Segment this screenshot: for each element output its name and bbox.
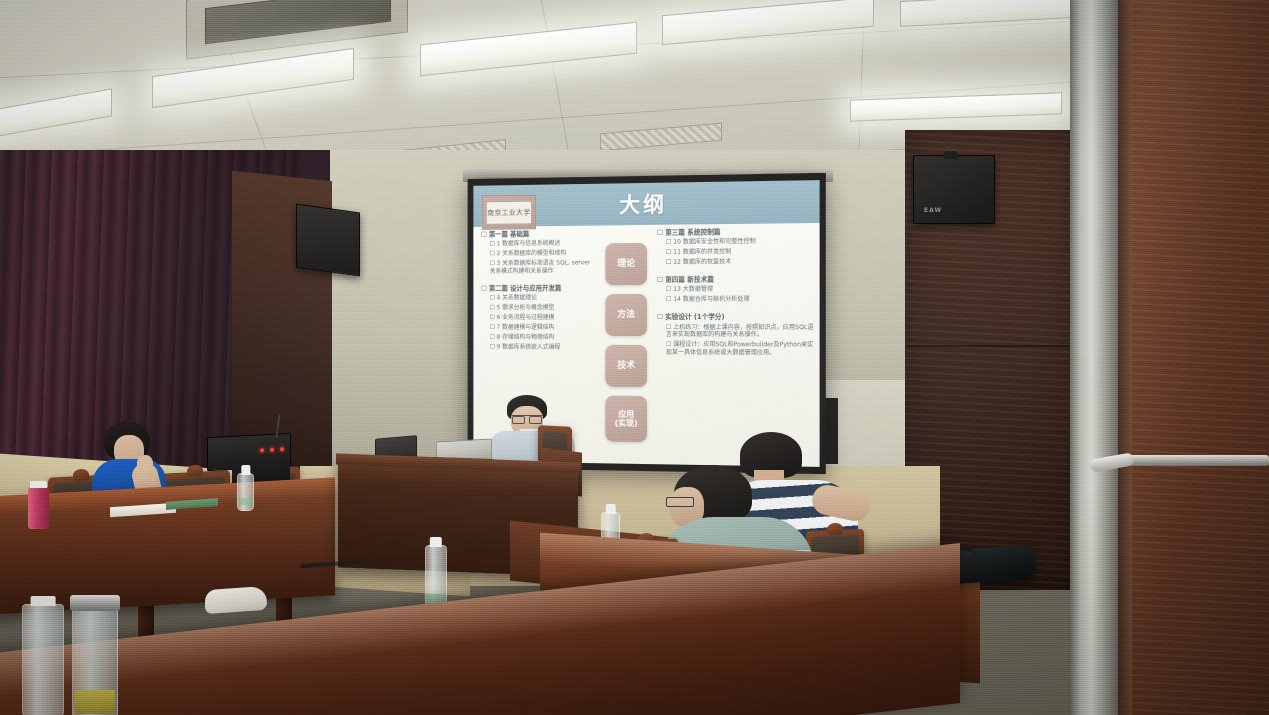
ceiling-light-3 (420, 22, 637, 77)
slide-line: ☐ 实验设计 (1个学分) (657, 313, 814, 321)
ceiling-light-2 (152, 48, 354, 108)
slide-line: ☐ 8 存储结构与物理结构 (490, 334, 596, 342)
wall-rail (1128, 455, 1269, 466)
metal-pillar (1070, 0, 1118, 715)
ceiling-light-6 (850, 92, 1062, 121)
water-bottle-head-table[interactable] (237, 473, 254, 511)
glasses (666, 497, 694, 507)
slide-line: ☐ 13 大数据管理 (666, 286, 815, 294)
slide-line: ☐ 4 关系数据理论 (490, 294, 596, 302)
tumbler-lid (70, 595, 120, 611)
slide-line: ☐ 12 数据库的恢复技术 (666, 258, 815, 267)
glasses (512, 415, 542, 422)
slide-line: ☐ 第三篇 系统控制篇 (657, 227, 814, 237)
slide-line: ☐ 14 数据仓库与联机分析处理 (666, 296, 815, 304)
pink-thermos[interactable] (28, 487, 49, 529)
speaker-brand-label: EAW (924, 207, 942, 214)
slide-line: ☐ 2 关系数据库的模型和结构 (490, 250, 596, 259)
university-logo-text: 南京工业大学 (486, 200, 532, 224)
slide-line: ☐ 11 数据库的并发控制 (666, 248, 815, 257)
ac-diffuser (186, 0, 408, 60)
slide-line: ☐ 5 需求分析与概念模型 (490, 304, 596, 312)
slide-line: ☐ 上机练习：根据上课内容，按照知识点，应用SQL语言来实现数据库的构建与关系操… (666, 324, 815, 340)
ceiling-light-1 (0, 88, 112, 139)
ceiling-light-5 (900, 0, 1092, 27)
wall-speaker-right: EAW (913, 155, 995, 224)
slide-line: ☐ 课程设计：应用SQL和Powerbuilder及Python来实现某一具体信… (666, 341, 815, 357)
wall-speaker-left (296, 204, 360, 277)
slide-concept-box: 技术 (605, 345, 647, 387)
university-logo: 南京工业大学 (482, 195, 536, 230)
slide-line: ☐ 第二篇 设计与应用开发篇 (481, 284, 595, 293)
slide-left-column: ☐ 第一篇 基础篇 ☐ 1 数据库与信息系统概述 ☐ 2 关系数据库的模型和结构… (481, 230, 595, 354)
photo-scene: EAW 大纲 南京工业大学 ☐ 第一篇 基础篇 ☐ 1 数据库与信息系统概述 ☐… (0, 0, 1269, 715)
hand (137, 455, 153, 473)
slide-line: ☐ 9 数据库系统嵌入式编程 (490, 344, 596, 352)
slide-concept-box: 方法 (605, 294, 647, 336)
pillar-shadow (1118, 0, 1132, 715)
slide-line: ☐ 10 数据库安全性和完整性控制 (666, 238, 815, 247)
tea-leaves (75, 690, 115, 714)
slide-line: ☐ 1 数据库与信息系统概述 (490, 240, 596, 249)
ceiling-light-4 (662, 0, 874, 45)
ceiling-vent-3 (600, 123, 722, 152)
slide-concept-box: 理论 (605, 243, 647, 285)
slide-line: ☐ 第四篇 新技术篇 (657, 275, 814, 284)
slide-line: ☐ 7 数据建模与逻辑结构 (490, 324, 596, 332)
glass-tea-tumbler[interactable] (72, 606, 118, 715)
slide-concept-box: 应用 (实现) (605, 396, 647, 442)
slide-line: ☐ 3 关系数据库标准语言 SQL, server 关系模式构建和关系操作 (490, 260, 596, 276)
water-bottle-foreground-left[interactable] (22, 604, 64, 715)
slide-right-column: ☐ 第三篇 系统控制篇 ☐ 10 数据库安全性和完整性控制 ☐ 11 数据库的并… (657, 227, 814, 360)
slide-middle-column: 理论 方法 技术 应用 (实现) (599, 229, 652, 451)
slide-line: ☐ 6 业务流程与过程建模 (490, 314, 596, 322)
white-shoes (205, 586, 267, 614)
slide-line: ☐ 第一篇 基础篇 (481, 230, 595, 239)
